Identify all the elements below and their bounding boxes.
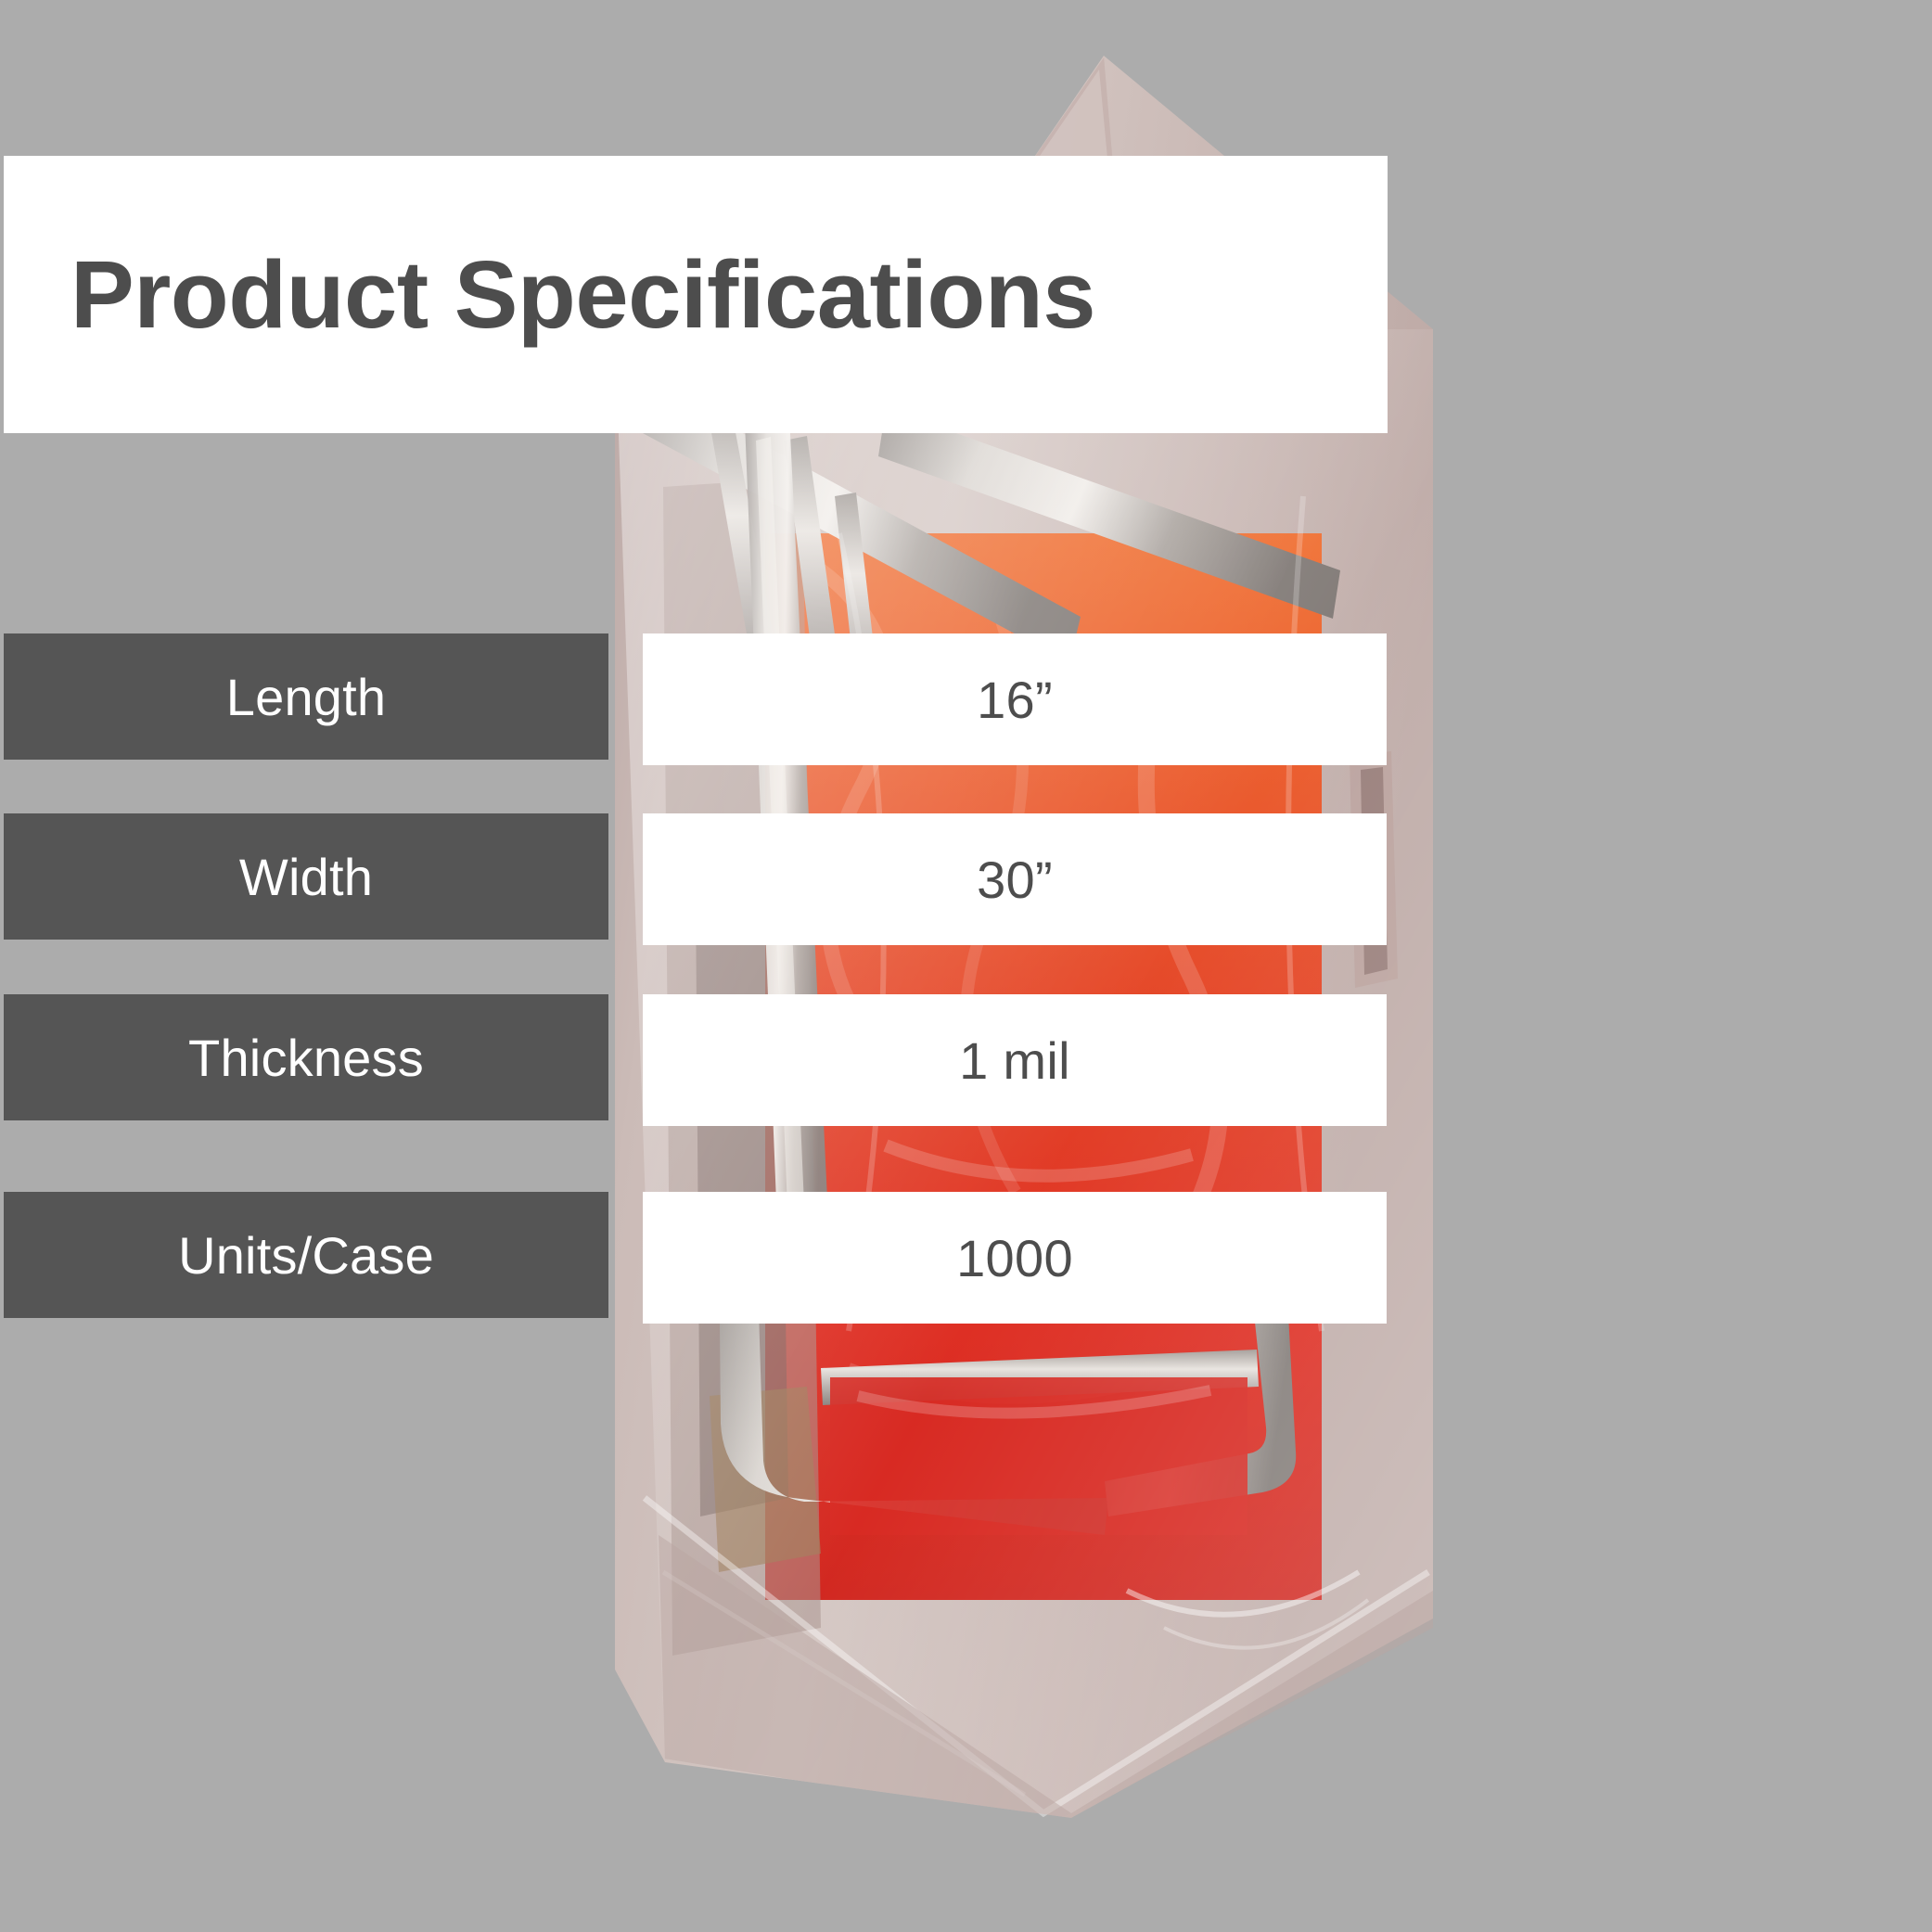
spec-row: Thickness 1 mil xyxy=(0,994,1932,1120)
spec-label-width: Width xyxy=(4,813,608,940)
spec-label-length: Length xyxy=(4,633,608,760)
spec-value-width: 30” xyxy=(643,813,1387,945)
spec-row: Width 30” xyxy=(0,813,1932,940)
page-title: Product Specifications xyxy=(4,247,1095,342)
spec-row: Length 16” xyxy=(0,633,1932,760)
spec-label-units-per-case: Units/Case xyxy=(4,1192,608,1318)
title-banner: Product Specifications xyxy=(4,156,1388,433)
spec-row: Units/Case 1000 xyxy=(0,1192,1932,1318)
spec-value-thickness: 1 mil xyxy=(643,994,1387,1126)
spec-label-thickness: Thickness xyxy=(4,994,608,1120)
spec-value-length: 16” xyxy=(643,633,1387,765)
spec-value-units-per-case: 1000 xyxy=(643,1192,1387,1324)
product-spec-card: Product Specifications Length 16” Width … xyxy=(0,0,1932,1932)
